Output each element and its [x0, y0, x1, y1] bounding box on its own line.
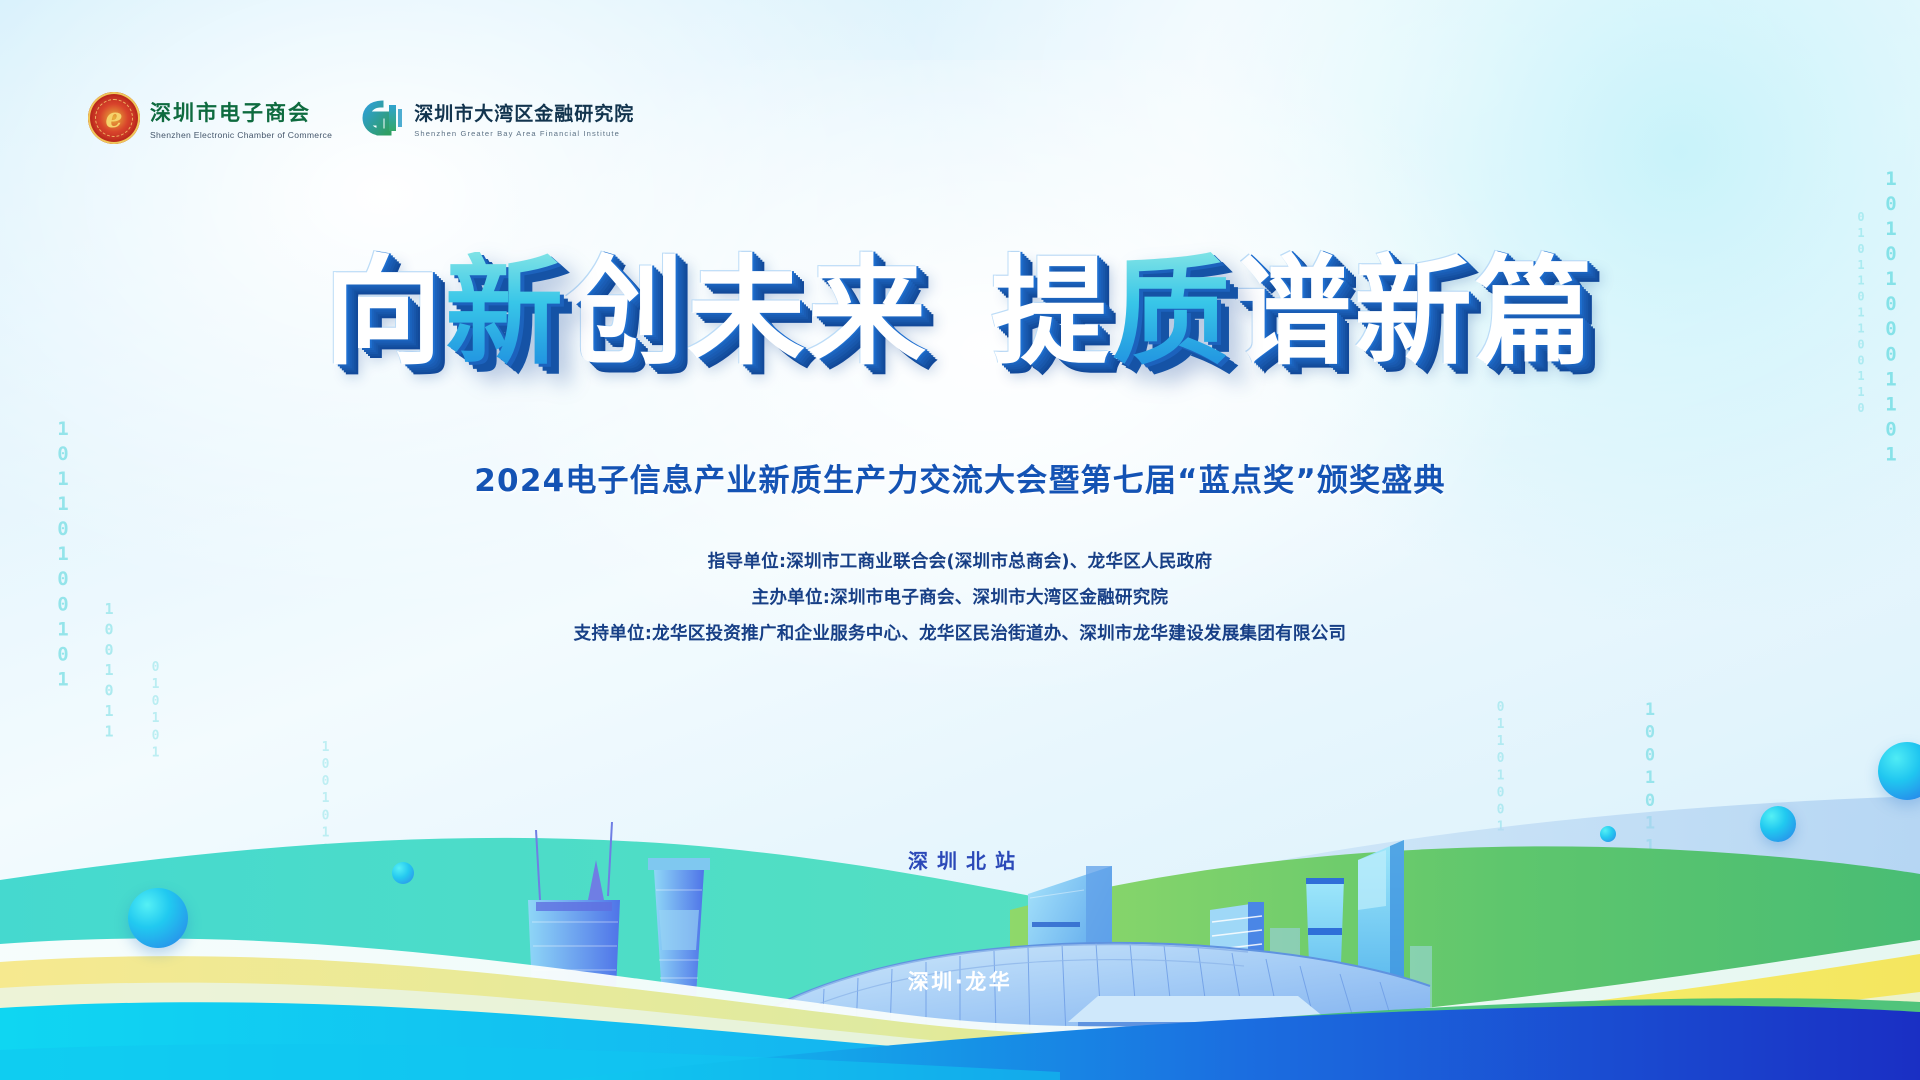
decorative-sphere-right [1760, 806, 1796, 842]
headline-segment-1: 向 [324, 243, 445, 381]
logo-gba-financial-institute: 深圳市大湾区金融研究院 Shenzhen Greater Bay Area Fi… [358, 98, 634, 138]
logo-name-cn: 深圳市大湾区金融研究院 [414, 99, 634, 126]
decorative-sphere-small-left [392, 862, 414, 884]
decorative-sphere-mid [1600, 826, 1616, 842]
seal-emblem-icon: e [88, 92, 140, 144]
logo-name-en: Shenzhen Electronic Chamber of Commerce [150, 130, 332, 140]
seal-emblem-letter: e [88, 92, 140, 144]
logo-name-en: Shenzhen Greater Bay Area Financial Inst… [414, 129, 634, 138]
sponsor-logo-row: e 深圳市电子商会 Shenzhen Electronic Chamber of… [88, 92, 634, 144]
logo-text-group: 深圳市电子商会 Shenzhen Electronic Chamber of C… [150, 97, 332, 140]
page-title: 向新创未来提质谱新篇 [0, 252, 1920, 372]
poster-canvas: 101010001101 0101101100110 1001011010 01… [0, 0, 1920, 1080]
logo-name-cn: 深圳市电子商会 [150, 97, 332, 127]
headline-accent-1: 新 [445, 252, 566, 372]
station-name-label: 深圳北站 [908, 845, 1024, 874]
logo-text-group: 深圳市大湾区金融研究院 Shenzhen Greater Bay Area Fi… [414, 99, 634, 138]
gbi-monogram-icon [358, 98, 404, 138]
headline-accent-2: 质 [1112, 252, 1233, 372]
logo-shenzhen-electronic-chamber: e 深圳市电子商会 Shenzhen Electronic Chamber of… [88, 92, 332, 144]
decorative-sphere-large-left [128, 888, 188, 948]
headline-segment-3: 提 [991, 243, 1112, 381]
headline-segment-4: 谱新篇 [1233, 243, 1596, 381]
headline-segment-2: 创未来 [566, 243, 929, 381]
page-subtitle: 2024电子信息产业新质生产力交流大会暨第七届“蓝点奖”颁奖盛典 [0, 455, 1920, 500]
organizer-line-guidance: 指导单位:深圳市工商业联合会(深圳市总商会)、龙华区人民政府 [0, 545, 1920, 581]
city-district-label: 深圳·龙华 [0, 966, 1920, 996]
